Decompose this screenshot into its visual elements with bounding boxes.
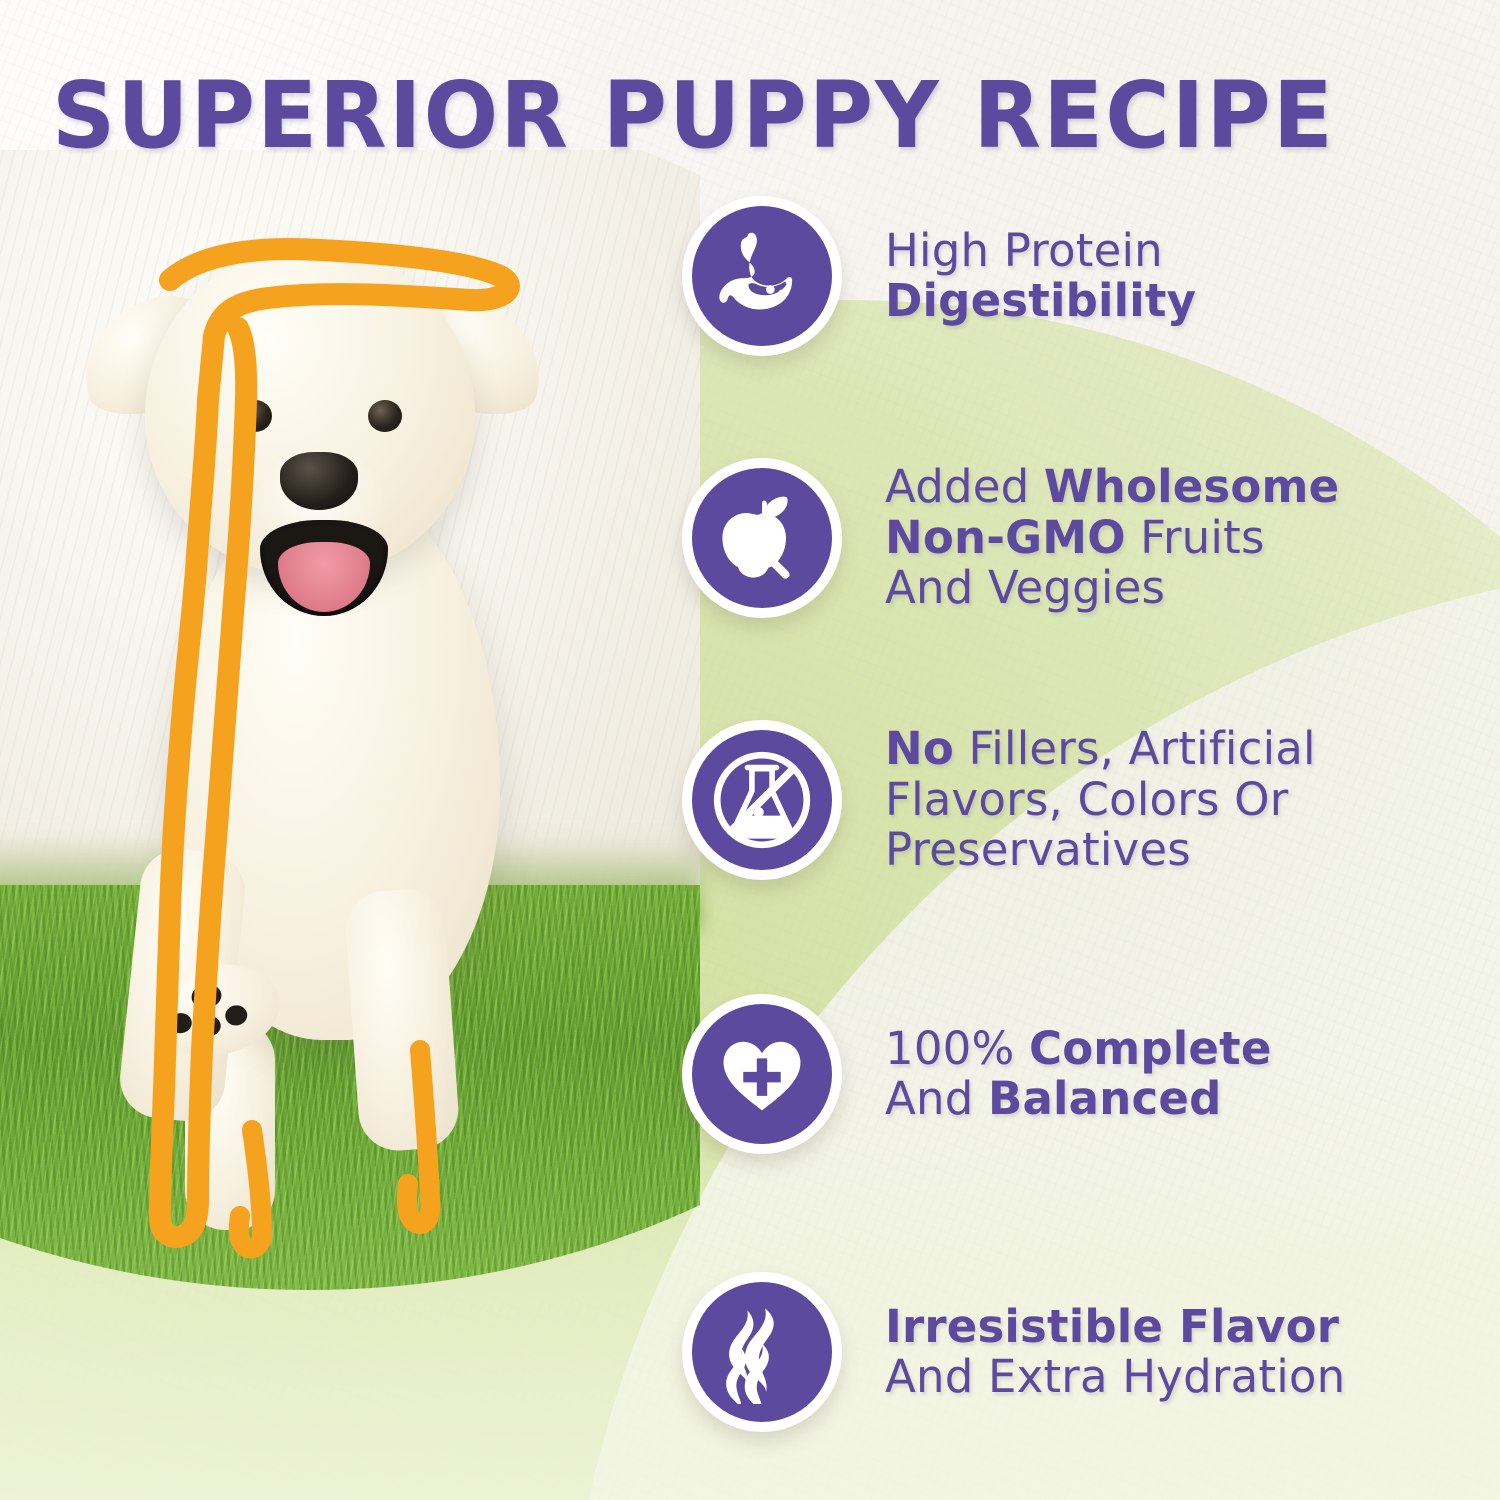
puppy-photo bbox=[0, 150, 700, 1330]
feature-text-line: No Fillers, Artificial bbox=[885, 724, 1316, 774]
badge-circle bbox=[682, 720, 842, 880]
promo-graphic: SUPERIOR PUPPY RECIPE High ProteinDigest… bbox=[0, 0, 1500, 1500]
feature-text-line: Added Wholesome bbox=[885, 462, 1339, 512]
feature-text-line: Irresistible Flavor bbox=[885, 1302, 1345, 1352]
feature-text: Irresistible FlavorAnd Extra Hydration bbox=[885, 1302, 1345, 1403]
feature-row-fruits-veggies[interactable]: Added WholesomeNon-GMO FruitsAnd Veggies bbox=[682, 458, 1339, 618]
feature-text-line: 100% Complete bbox=[885, 1024, 1272, 1074]
feature-text-line: Non-GMO Fruits bbox=[885, 513, 1339, 563]
puppy-right-eye bbox=[368, 400, 402, 432]
flame-swirl-icon bbox=[710, 1300, 814, 1404]
page-title: SUPERIOR PUPPY RECIPE bbox=[52, 70, 1500, 162]
feature-text-line: And Balanced bbox=[885, 1074, 1272, 1124]
heart-plus-icon bbox=[710, 1022, 814, 1126]
badge-circle bbox=[682, 994, 842, 1154]
feature-text: No Fillers, ArtificialFlavors, Colors Or… bbox=[885, 724, 1316, 875]
feature-text-line: And Veggies bbox=[885, 563, 1339, 613]
feature-text-line: Flavors, Colors Or bbox=[885, 775, 1316, 825]
feature-text: High ProteinDigestibility bbox=[885, 226, 1196, 327]
feature-text: 100% CompleteAnd Balanced bbox=[885, 1024, 1272, 1125]
stomach-icon bbox=[710, 224, 814, 328]
badge-circle bbox=[682, 1272, 842, 1432]
no-flask-icon bbox=[706, 744, 818, 856]
feature-row-flavor-hydration[interactable]: Irresistible FlavorAnd Extra Hydration bbox=[682, 1272, 1345, 1432]
badge-circle bbox=[682, 196, 842, 356]
feature-text-line: Preservatives bbox=[885, 825, 1316, 875]
feature-text-line: And Extra Hydration bbox=[885, 1352, 1345, 1402]
feature-row-digestibility[interactable]: High ProteinDigestibility bbox=[682, 196, 1196, 356]
apple-carrot-icon bbox=[710, 486, 814, 590]
badge-circle bbox=[682, 458, 842, 618]
feature-row-complete-balanced[interactable]: 100% CompleteAnd Balanced bbox=[682, 994, 1272, 1154]
feature-text-line: High Protein bbox=[885, 226, 1196, 276]
feature-text-line: Digestibility bbox=[885, 276, 1196, 326]
feature-row-no-fillers[interactable]: No Fillers, ArtificialFlavors, Colors Or… bbox=[682, 720, 1316, 880]
feature-text: Added WholesomeNon-GMO FruitsAnd Veggies bbox=[885, 462, 1339, 613]
puppy-left-eye bbox=[238, 400, 272, 432]
puppy-front-right-leg bbox=[343, 887, 461, 1153]
